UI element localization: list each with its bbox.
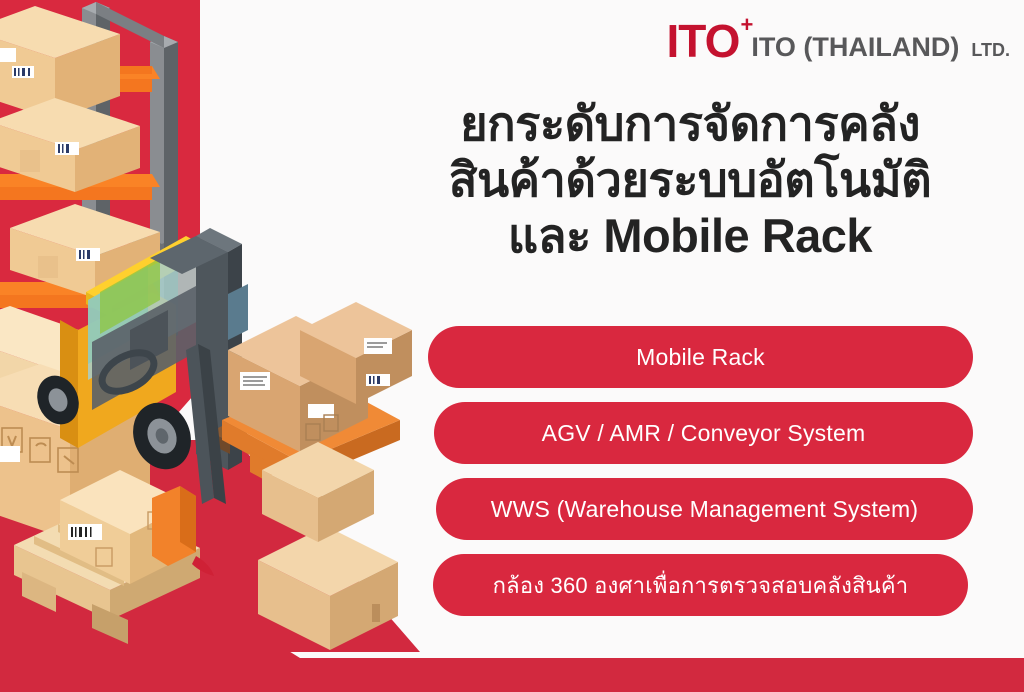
company-suffix: LTD. xyxy=(971,40,1010,64)
brand-logo: ITO + ITO (THAILAND) LTD. xyxy=(667,12,1010,64)
floor-box-front xyxy=(258,526,398,650)
feature-pill-wws[interactable]: WWS (Warehouse Management System) xyxy=(436,478,973,540)
headline-line-3: และ Mobile Rack xyxy=(380,208,1000,264)
warehouse-illustration xyxy=(0,0,440,692)
ito-logomark: ITO + xyxy=(667,18,740,64)
headline-line-1: ยกระดับการจัดการคลัง xyxy=(380,96,1000,152)
feature-list: Mobile Rack AGV / AMR / Conveyor System … xyxy=(428,326,973,630)
headline: ยกระดับการจัดการคลัง สินค้าด้วยระบบอัตโน… xyxy=(380,96,1000,264)
feature-pill-camera-360[interactable]: กล้อง 360 องศาเพื่อการตรวจสอบคลังสินค้า xyxy=(433,554,968,616)
company-name: ITO (THAILAND) xyxy=(751,32,959,64)
promotional-banner: ITO + ITO (THAILAND) LTD. ยกระดับการจัดก… xyxy=(0,0,1024,692)
headline-line-2: สินค้าด้วยระบบอัตโนมัติ xyxy=(380,152,1000,208)
ito-logomark-text: ITO xyxy=(667,15,740,67)
feature-pill-agv-amr-conveyor[interactable]: AGV / AMR / Conveyor System xyxy=(434,402,973,464)
plus-icon: + xyxy=(741,14,753,36)
feature-pill-mobile-rack[interactable]: Mobile Rack xyxy=(428,326,973,388)
